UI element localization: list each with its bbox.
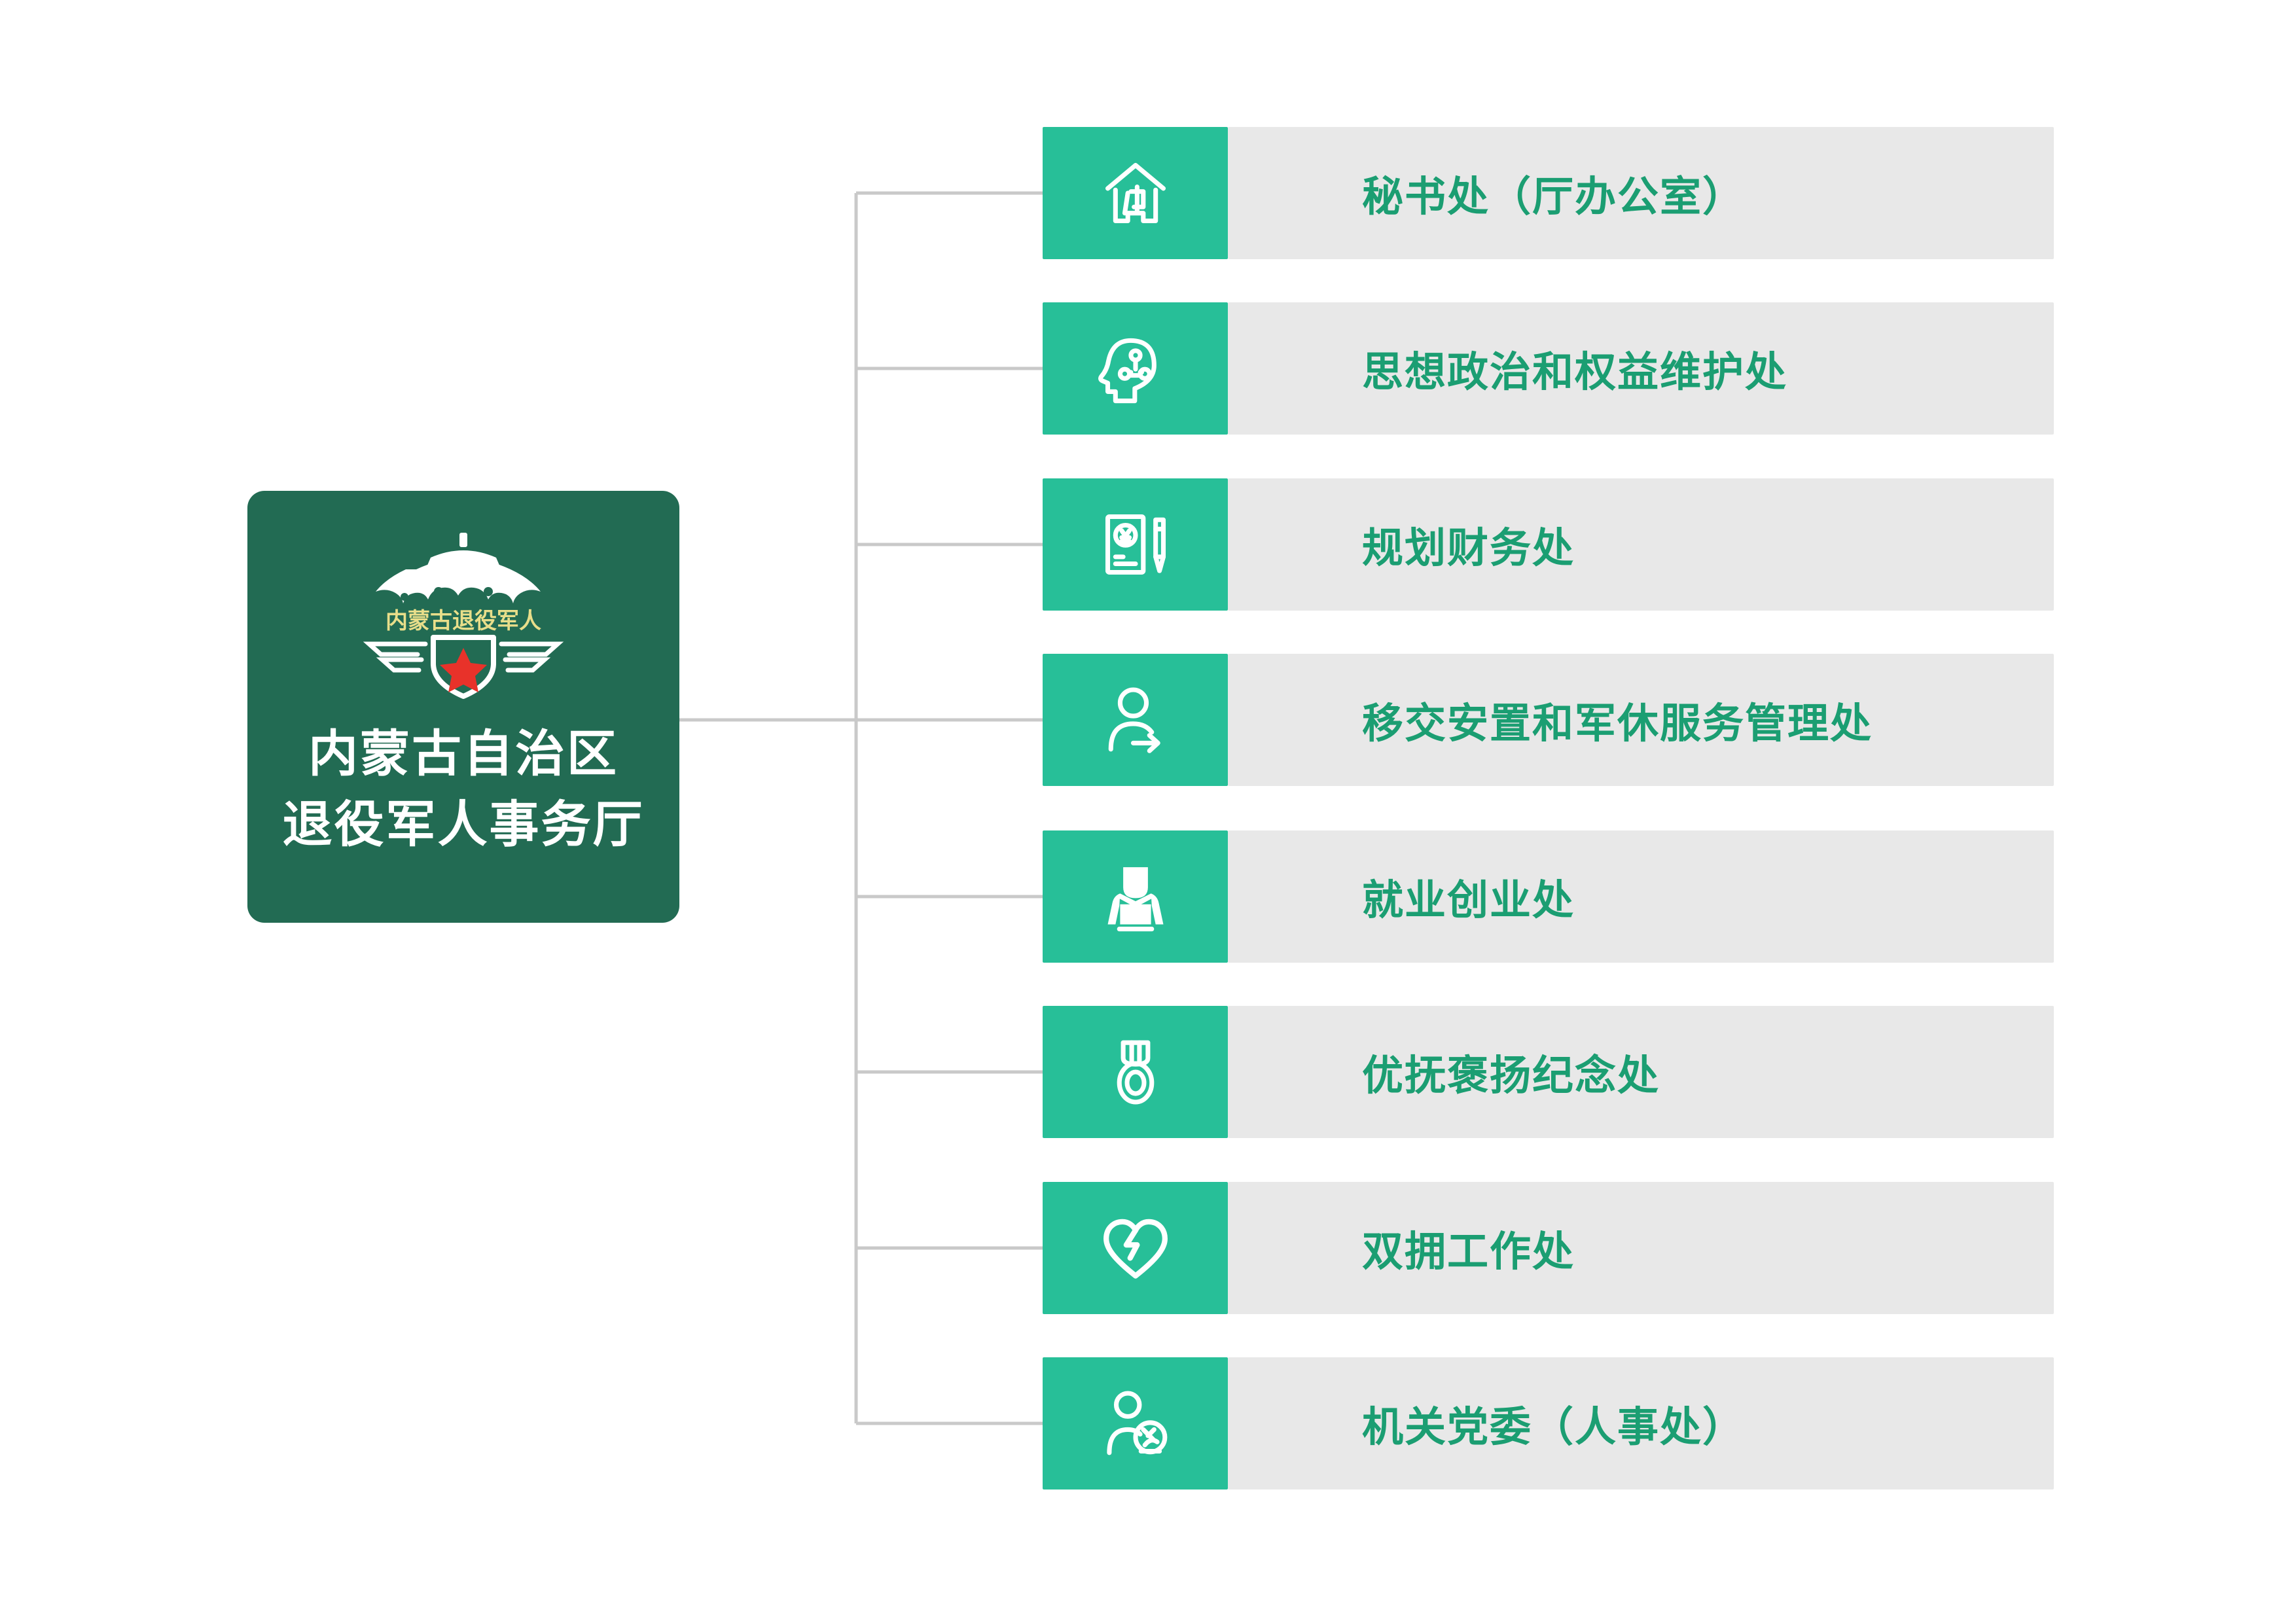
heart-support-icon-tile[interactable]	[1043, 1182, 1228, 1314]
root-node-veterans-affairs-department[interactable]: 内蒙古退役军人 内蒙古自治区 退役军人事务厅	[247, 491, 679, 923]
person-desk-work-icon	[1097, 858, 1174, 935]
department-label-7: 双拥工作处	[1362, 1219, 1575, 1278]
heart-support-icon	[1097, 1209, 1174, 1287]
person-party-emblem-icon-tile[interactable]	[1043, 1357, 1228, 1489]
root-title-line1: 内蒙古自治区	[283, 719, 645, 790]
head-network-icon-tile[interactable]	[1043, 302, 1228, 435]
department-label-bar-3: 规划财务处	[1228, 478, 2054, 611]
department-label-8: 机关党委（人事处）	[1362, 1394, 1745, 1454]
department-label-bar-4: 移交安置和军休服务管理处	[1228, 654, 2054, 786]
department-row-5[interactable]: 就业创业处	[1043, 830, 2054, 963]
house-office-icon-tile[interactable]	[1043, 127, 1228, 259]
department-row-3[interactable]: 规划财务处	[1043, 478, 2054, 611]
head-network-icon	[1097, 330, 1174, 407]
finance-document-pencil-icon-tile[interactable]	[1043, 478, 1228, 611]
department-label-4: 移交安置和军休服务管理处	[1362, 690, 1873, 750]
root-title-line2: 退役军人事务厅	[283, 790, 645, 861]
person-desk-work-icon-tile[interactable]	[1043, 830, 1228, 963]
department-label-1: 秘书处（厅办公室）	[1362, 164, 1745, 223]
department-row-6[interactable]: 优抚褒扬纪念处	[1043, 1006, 2054, 1138]
department-label-bar-2: 思想政治和权益维护处	[1228, 302, 2054, 435]
department-label-2: 思想政治和权益维护处	[1362, 339, 1787, 399]
department-row-7[interactable]: 双拥工作处	[1043, 1182, 2054, 1314]
org-chart-canvas: 内蒙古退役军人 内蒙古自治区 退役军人事务厅	[0, 0, 2296, 1623]
department-label-bar-1: 秘书处（厅办公室）	[1228, 127, 2054, 259]
department-label-6: 优抚褒扬纪念处	[1362, 1043, 1660, 1102]
inner-mongolia-veterans-emblem: 内蒙古退役军人	[339, 529, 588, 702]
person-arrow-transfer-icon-tile[interactable]	[1043, 654, 1228, 786]
house-office-icon	[1097, 154, 1174, 232]
medal-icon	[1097, 1033, 1174, 1111]
person-arrow-transfer-icon	[1097, 681, 1174, 758]
root-title: 内蒙古自治区 退役军人事务厅	[283, 719, 645, 861]
department-label-5: 就业创业处	[1362, 867, 1575, 927]
department-row-2[interactable]: 思想政治和权益维护处	[1043, 302, 2054, 435]
finance-document-pencil-icon	[1097, 506, 1174, 583]
medal-icon-tile[interactable]	[1043, 1006, 1228, 1138]
department-row-1[interactable]: 秘书处（厅办公室）	[1043, 127, 2054, 259]
department-label-3: 规划财务处	[1362, 515, 1575, 575]
department-label-bar-5: 就业创业处	[1228, 830, 2054, 963]
person-party-emblem-icon	[1097, 1385, 1174, 1462]
emblem-brand-text: 内蒙古退役军人	[386, 609, 541, 633]
department-row-8[interactable]: 机关党委（人事处）	[1043, 1357, 2054, 1489]
department-label-bar-6: 优抚褒扬纪念处	[1228, 1006, 2054, 1138]
department-label-bar-7: 双拥工作处	[1228, 1182, 2054, 1314]
department-label-bar-8: 机关党委（人事处）	[1228, 1357, 2054, 1489]
department-row-4[interactable]: 移交安置和军休服务管理处	[1043, 654, 2054, 786]
